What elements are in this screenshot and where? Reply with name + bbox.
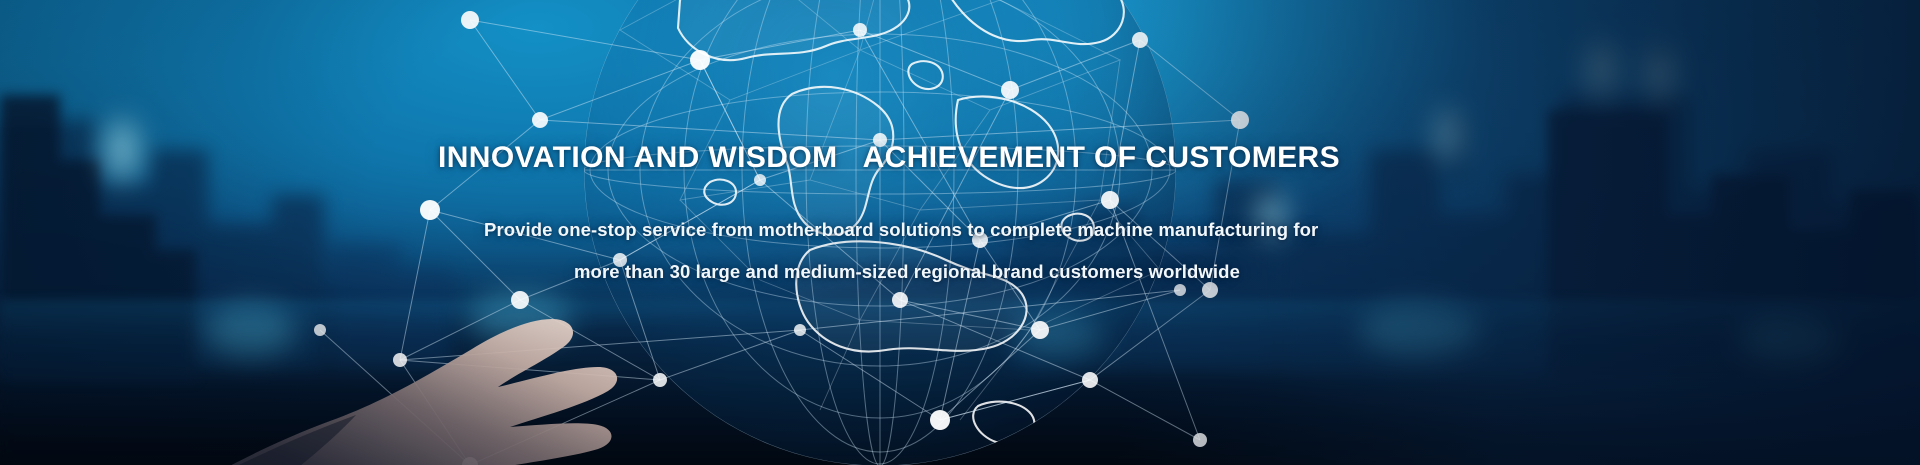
hero-banner: INNOVATION AND WISDOM ACHIEVEMENT OF CUS… <box>0 0 1920 465</box>
right-shadow-overlay <box>0 0 1920 465</box>
